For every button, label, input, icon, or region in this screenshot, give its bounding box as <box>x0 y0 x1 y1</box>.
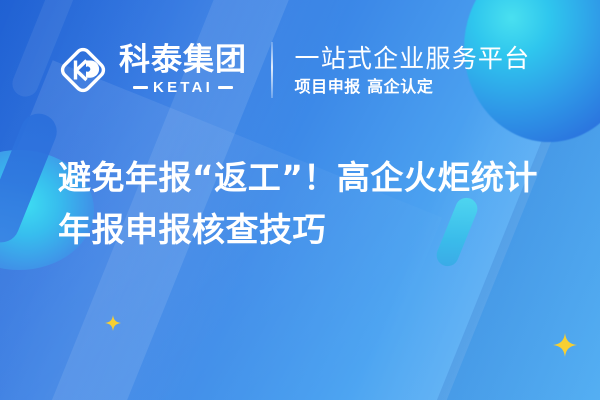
banner-header: 科泰集团 KETAI 一站式企业服务平台 项目申报 高企认定 <box>56 38 530 102</box>
logo-name-en-row: KETAI <box>133 80 233 95</box>
logo-rule-left <box>133 86 148 89</box>
promo-banner: 科泰集团 KETAI 一站式企业服务平台 项目申报 高企认定 避免年报“返工”！… <box>0 0 600 400</box>
headline-line-2: 年报申报核查技巧 <box>58 204 578 256</box>
tagline-block: 一站式企业服务平台 项目申报 高企认定 <box>295 45 531 96</box>
logo-wordmark: 科泰集团 KETAI <box>119 45 247 95</box>
ketai-logo-icon <box>56 43 110 97</box>
logo-name-en: KETAI <box>153 80 213 95</box>
tagline-main: 一站式企业服务平台 <box>295 45 531 73</box>
dark-capsule-left <box>0 108 62 248</box>
sparkle-large-icon <box>553 333 577 357</box>
logo-rule-right <box>218 86 233 89</box>
tagline-sub: 项目申报 高企认定 <box>295 78 531 96</box>
header-divider <box>271 42 273 98</box>
headline-line-1: 避免年报“返工”！高企火炬统计 <box>58 152 578 204</box>
headline-block: 避免年报“返工”！高企火炬统计 年报申报核查技巧 <box>58 152 578 256</box>
logo-name-cn: 科泰集团 <box>119 45 247 76</box>
sparkle-small-icon <box>105 315 121 331</box>
